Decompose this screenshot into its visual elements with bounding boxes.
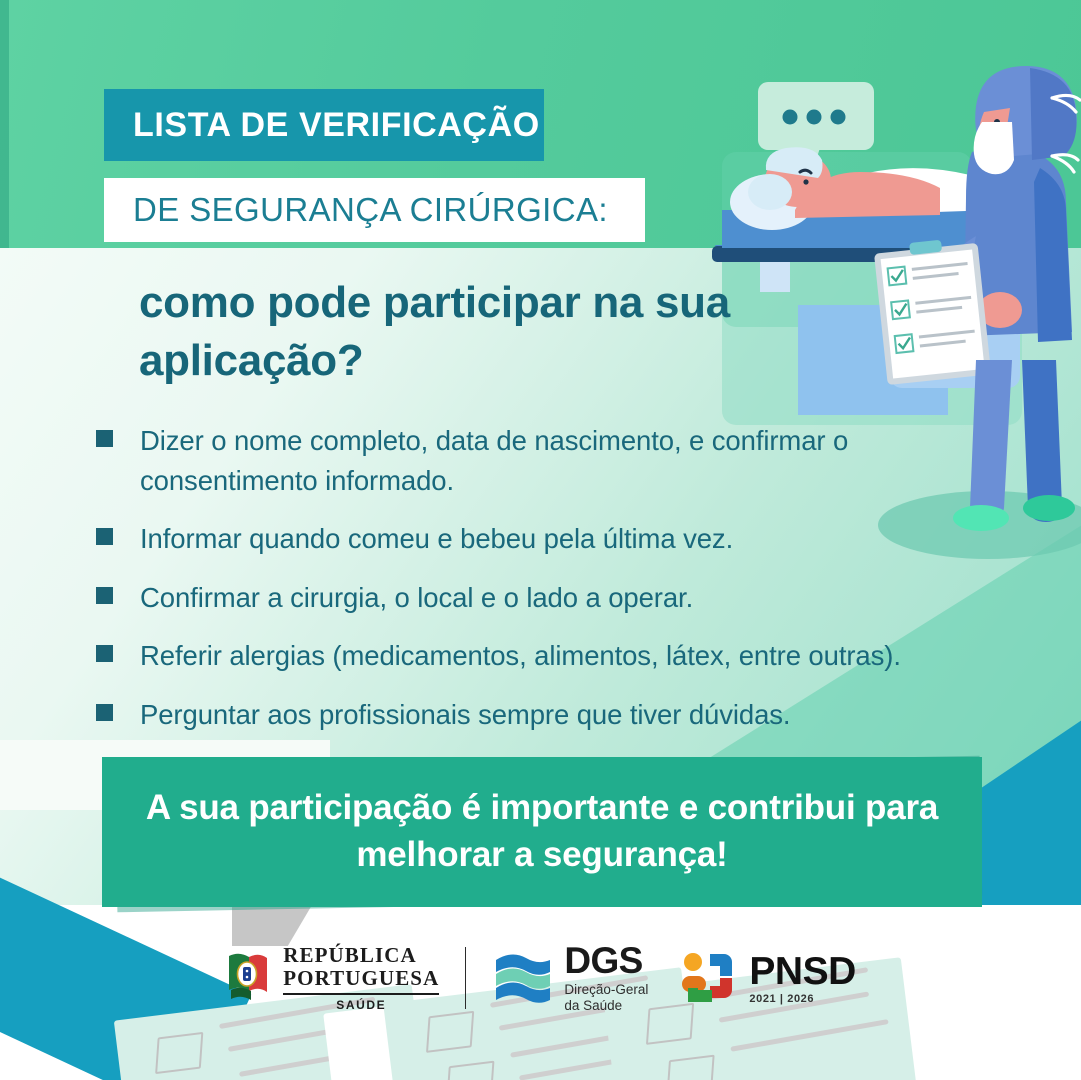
list-item-label: Perguntar aos profissionais sempre que t… — [140, 695, 790, 735]
list-item-label: Informar quando comeu e bebeu pela últim… — [140, 519, 733, 559]
dgs-waves-icon — [492, 948, 554, 1008]
rp-line-2: PORTUGUESA — [283, 967, 439, 990]
dgs-subtitle-line-2: da Saúde — [564, 998, 648, 1014]
rp-divider-rule — [283, 993, 439, 995]
list-item: Confirmar a cirurgia, o local e o lado a… — [96, 578, 1006, 618]
list-item-label: Confirmar a cirurgia, o local e o lado a… — [140, 578, 693, 618]
pnsd-text: PNSD 2021 | 2026 — [749, 952, 855, 1005]
portugal-shield-icon — [225, 950, 271, 1006]
list-item-label: Dizer o nome completo, data de nasciment… — [140, 421, 1006, 500]
rp-ministry-label: SAÚDE — [283, 998, 439, 1012]
background-left-edge-strip — [0, 0, 9, 248]
bullet-square-icon — [96, 645, 113, 662]
shoe-cover-right — [1023, 495, 1075, 521]
bullet-square-icon — [96, 528, 113, 545]
checkbox-icon — [666, 1055, 714, 1080]
footer-divider — [465, 947, 466, 1009]
header-line-1: LISTA DE VERIFICAÇÃO — [104, 106, 540, 145]
checklist-clipboard — [873, 236, 991, 385]
pnsd-acronym: PNSD — [749, 952, 855, 991]
cta-message: A sua participação é importante e contri… — [102, 785, 982, 878]
page-title: como pode participar na sua aplicação? — [139, 274, 759, 390]
dgs-logo: DGS Direção-Geral da Saúde — [492, 942, 648, 1014]
surgeon-scrubs-shade — [1034, 168, 1072, 342]
list-item: Referir alergias (medicamentos, alimento… — [96, 636, 1006, 676]
list-item: Perguntar aos profissionais sempre que t… — [96, 695, 1006, 735]
rp-line-1: REPÚBLICA — [283, 944, 439, 967]
cta-banner: A sua participação é importante e contri… — [102, 757, 982, 907]
pnsd-years: 2021 | 2026 — [749, 993, 814, 1005]
surgeon-cap-shade — [1030, 68, 1077, 160]
poster-root: LISTA DE VERIFICAÇÃO DE SEGURANÇA CIRÚRG… — [0, 0, 1081, 1080]
pnsd-mark-icon — [680, 948, 738, 1008]
participation-list: Dizer o nome completo, data de nasciment… — [96, 421, 1006, 754]
dgs-acronym: DGS — [564, 942, 648, 979]
checkbox-icon — [446, 1061, 494, 1080]
list-item: Dizer o nome completo, data de nasciment… — [96, 421, 1006, 500]
surgeon-mask — [974, 122, 1014, 174]
list-item: Informar quando comeu e bebeu pela últim… — [96, 519, 1006, 559]
republica-portuguesa-text: REPÚBLICA PORTUGUESA SAÚDE — [283, 944, 439, 1012]
bullet-square-icon — [96, 587, 113, 604]
footer-logos: REPÚBLICA PORTUGUESA SAÚDE DGS Direção-G… — [0, 928, 1081, 1028]
dgs-text: DGS Direção-Geral da Saúde — [564, 942, 648, 1014]
dgs-subtitle-line-1: Direção-Geral — [564, 982, 648, 998]
header-title-band: LISTA DE VERIFICAÇÃO — [104, 89, 544, 161]
list-item-label: Referir alergias (medicamentos, alimento… — [140, 636, 901, 676]
patient-cap-back — [748, 174, 792, 210]
bullet-square-icon — [96, 430, 113, 447]
header-line-2: DE SEGURANÇA CIRÚRGICA: — [104, 191, 608, 229]
checkbox-icon — [155, 1032, 203, 1074]
patient-eye — [803, 179, 808, 184]
pnsd-logo: PNSD 2021 | 2026 — [680, 948, 855, 1008]
republica-portuguesa-logo: REPÚBLICA PORTUGUESA SAÚDE — [225, 944, 439, 1012]
bullet-square-icon — [96, 704, 113, 721]
header-subtitle-band: DE SEGURANÇA CIRÚRGICA: — [104, 178, 645, 242]
